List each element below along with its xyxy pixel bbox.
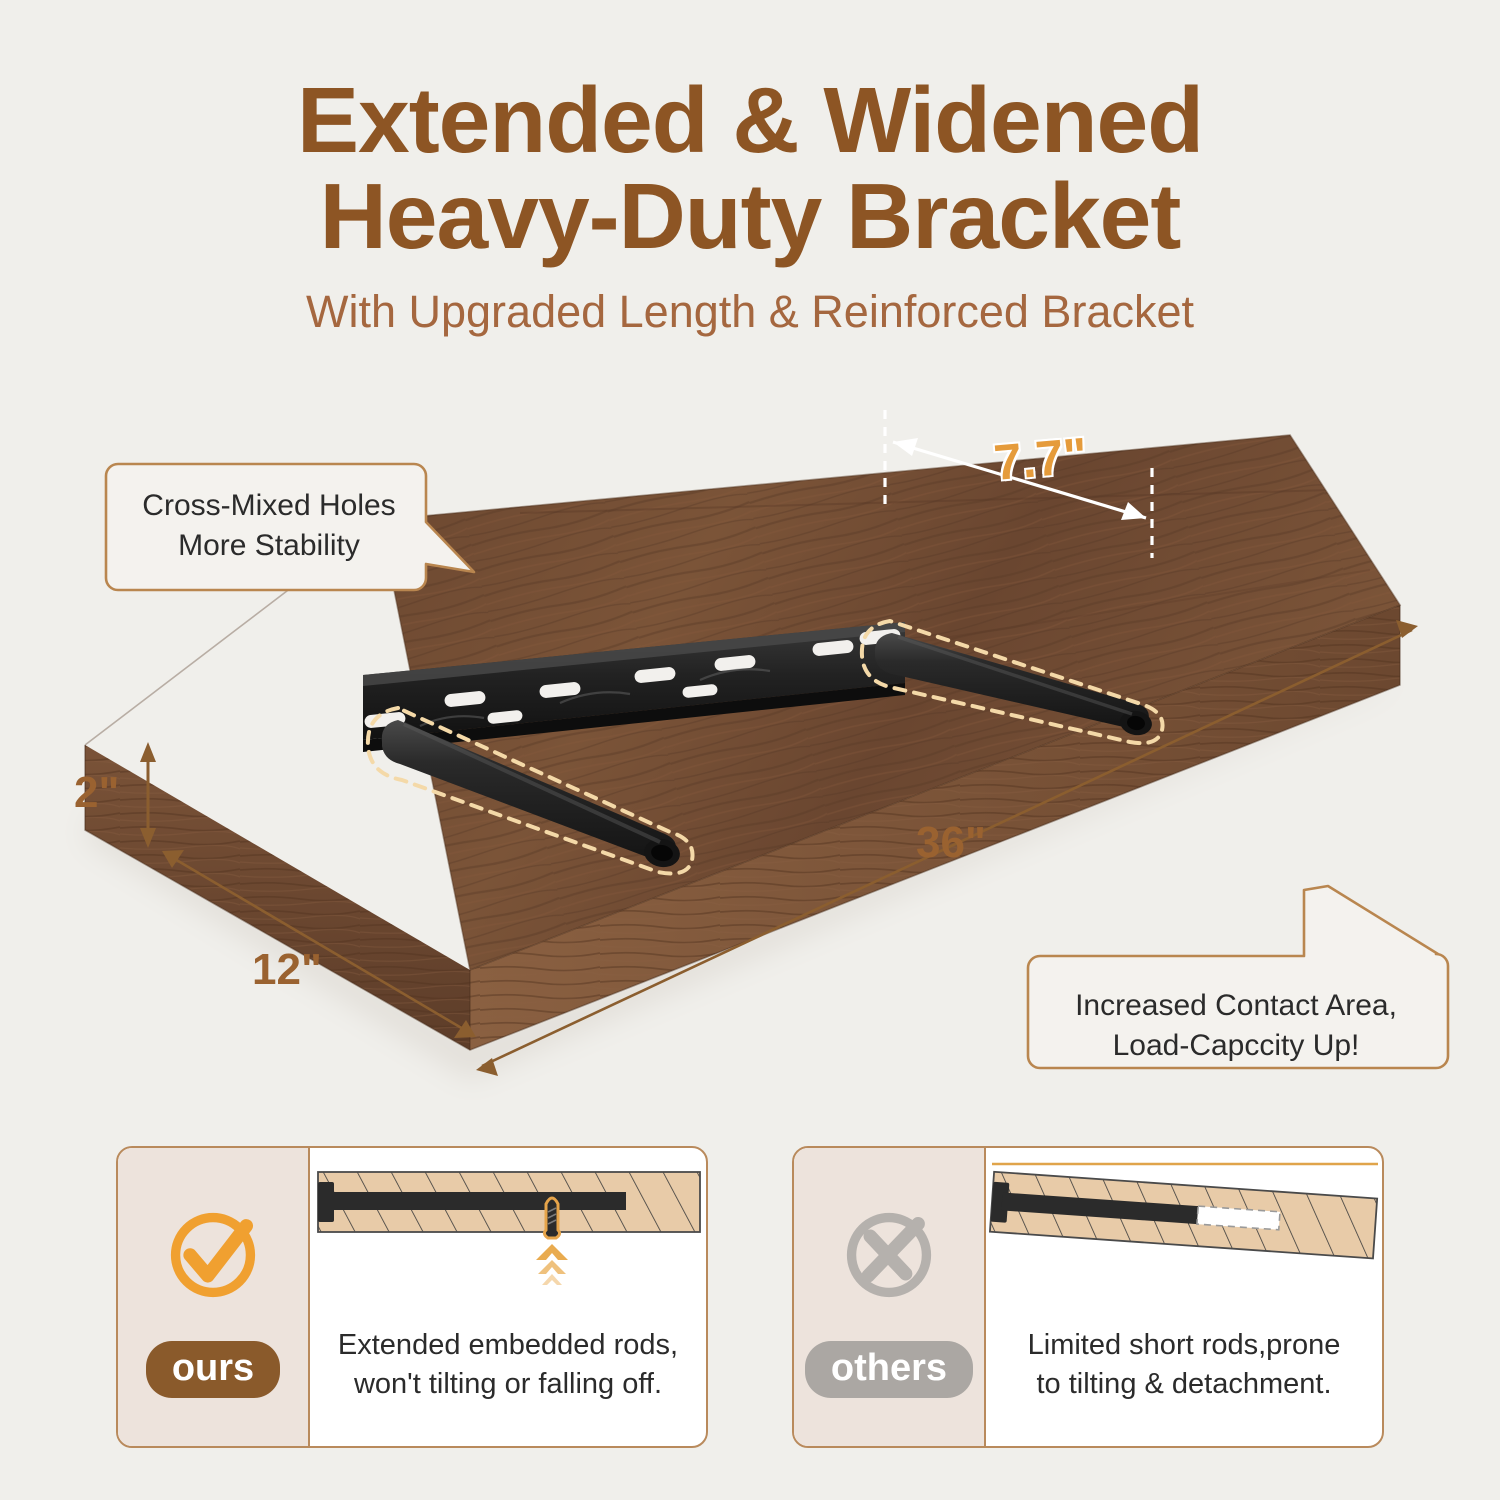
page-title: Extended & Widened Heavy-Duty Bracket Wi… xyxy=(0,72,1500,338)
title-line-2: Heavy-Duty Bracket xyxy=(0,168,1500,264)
screw-icon xyxy=(544,1198,559,1238)
badge-ours: ours xyxy=(146,1341,280,1398)
callout-cross-mixed-holes: Cross-Mixed Holes More Stability xyxy=(96,460,476,600)
title-line-1: Extended & Widened xyxy=(0,72,1500,168)
panel-ours-content: Extended embedded rods, won't tilting or… xyxy=(310,1148,706,1446)
panel-others-sidebar: others xyxy=(794,1148,986,1446)
dimension-label-rod-length: 7.7" xyxy=(992,426,1090,492)
dimension-label-depth: 12" xyxy=(252,945,322,995)
diagram-extended-rod xyxy=(310,1148,708,1316)
infographic-canvas: Extended & Widened Heavy-Duty Bracket Wi… xyxy=(0,0,1500,1500)
page-subtitle: With Upgraded Length & Reinforced Bracke… xyxy=(0,286,1500,338)
check-circle-icon xyxy=(161,1203,265,1307)
panel-ours-caption: Extended embedded rods, won't tilting or… xyxy=(310,1326,706,1404)
dimension-label-thickness: 2" xyxy=(74,768,119,818)
panel-others-caption: Limited short rods,prone to tilting & de… xyxy=(986,1326,1382,1404)
callout-increased-contact-area-text: Increased Contact Area, Load-Capccity Up… xyxy=(1040,986,1432,1066)
comparison-panel-ours: ours xyxy=(116,1146,708,1448)
x-circle-icon xyxy=(837,1203,941,1307)
diagram-short-rod xyxy=(986,1148,1384,1316)
panel-others-content: Limited short rods,prone to tilting & de… xyxy=(986,1148,1382,1446)
dimension-label-length: 36" xyxy=(916,818,986,868)
dimension-line-depth xyxy=(162,850,476,1038)
upward-arrow-icon xyxy=(536,1244,568,1285)
callout-cross-mixed-holes-text: Cross-Mixed Holes More Stability xyxy=(114,486,424,566)
panel-ours-sidebar: ours xyxy=(118,1148,310,1446)
comparison-panel-others: others Limited xyxy=(792,1146,1384,1448)
callout-increased-contact-area: Increased Contact Area, Load-Capccity Up… xyxy=(1018,878,1458,1078)
badge-others: others xyxy=(805,1341,973,1398)
